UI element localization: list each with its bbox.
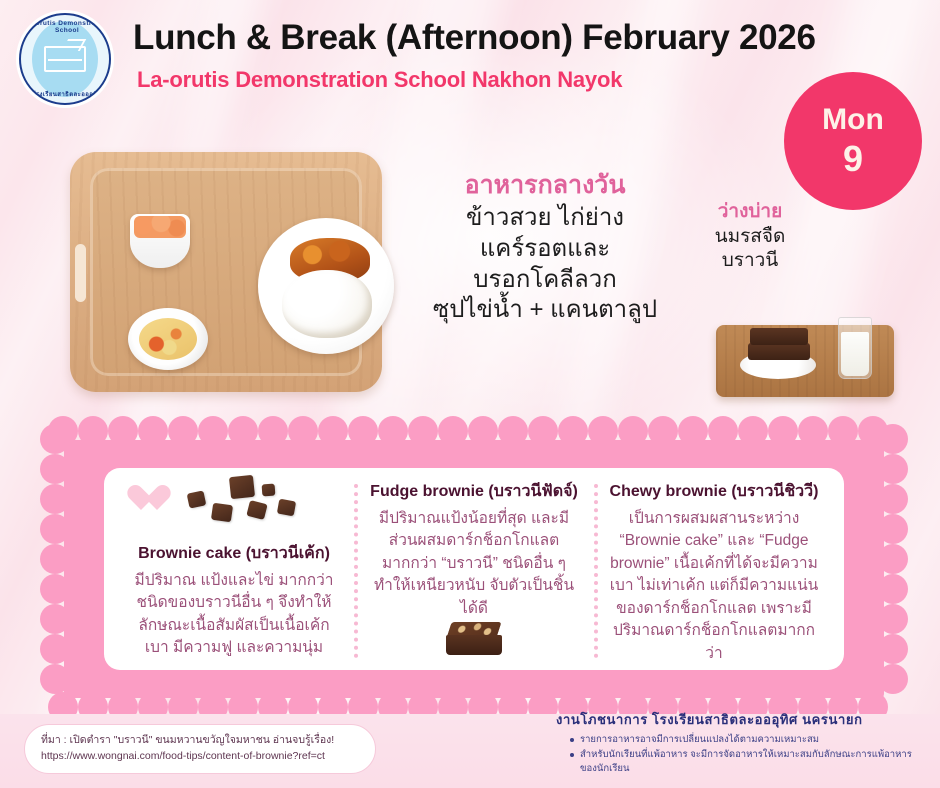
column-title: Fudge brownie (บราวนีฟัดจ์) <box>366 482 582 503</box>
card-white-panel: Brownie cake (บราวนีเค้ก) มีปริมาณ แป้งแ… <box>104 468 844 670</box>
soup-bowl <box>128 308 208 370</box>
egg-soup <box>139 318 197 360</box>
bullet-icon <box>570 753 574 757</box>
column-title-en: Brownie cake <box>138 545 241 562</box>
column-title: Brownie cake (บราวนีเค้ก) <box>126 544 342 565</box>
snack-line: นมรสจืด <box>676 225 824 250</box>
school-logo: La-orutis Demonstration School โรงเรียนส… <box>16 10 114 108</box>
snack-board-image <box>716 325 894 397</box>
main-plate <box>258 218 394 354</box>
lunch-tray-image <box>70 152 382 392</box>
note-item: รายการอาหารอาจมีการเปลี่ยนแปลงได้ตามความ… <box>556 733 928 747</box>
brownie-front-face <box>446 635 502 655</box>
card-pink-panel: Brownie cake (บราวนีเค้ก) มีปริมาณ แป้งแ… <box>64 440 884 698</box>
school-building-icon <box>44 46 86 72</box>
column-title-th: (บราวนีเค้ก) <box>246 545 330 562</box>
brownie-piece <box>750 328 808 345</box>
footer: ที่มา : เปิดตำรา "บราวนี" ขนมหวานขวัญใจม… <box>0 714 940 788</box>
fudge-brownie-icon <box>446 622 502 656</box>
day-number: 9 <box>843 141 863 177</box>
column-title-th: (บราวนีชิววี) <box>731 483 818 500</box>
lunch-line: ข้าวสวย ไก่ย่าง <box>415 203 675 234</box>
header: La-orutis Demonstration School โรงเรียนส… <box>0 0 940 108</box>
logo-bottom-text: โรงเรียนสาธิตละอออุทิศ <box>21 89 111 99</box>
logo-top-text: La-orutis Demonstration School <box>21 20 111 34</box>
bullet-icon <box>570 738 574 742</box>
page-subtitle: La-orutis Demonstration School Nakhon Na… <box>137 67 622 93</box>
brownie-piece <box>748 343 810 360</box>
steamed-rice <box>282 270 372 338</box>
day-badge: Mon 9 <box>784 72 922 210</box>
snack-heading: ว่างบ่าย <box>676 200 824 225</box>
cantaloupe-bowl <box>130 214 190 268</box>
column-body: เป็นการผสมผสานระหว่าง “Brownie cake” และ… <box>606 508 822 665</box>
column-title-en: Chewy brownie <box>610 483 727 500</box>
tray-handle-left <box>75 244 86 302</box>
notes-block: งานโภชนาการ โรงเรียนสาธิตละอออุทิศ นครนา… <box>556 709 928 776</box>
column-body: มีปริมาณ แป้งและไข่ มากกว่าชนิดของบราวนี… <box>126 570 342 660</box>
column-title-en: Fudge brownie <box>370 483 484 500</box>
source-box: ที่มา : เปิดตำรา "บราวนี" ขนมหวานขวัญใจม… <box>24 724 376 774</box>
note-text: สำหรับนักเรียนที่แพ้อาหาร จะมีการจัดอาหา… <box>580 748 928 777</box>
column-title-th: (บราวนีฟัดจ์) <box>488 483 577 500</box>
snack-menu: ว่างบ่าย นมรสจืด บราวนี <box>676 200 824 274</box>
milk-fill <box>841 332 869 376</box>
brownie-stack <box>748 328 810 362</box>
page-title: Lunch & Break (Afternoon) February 2026 <box>133 18 816 58</box>
lunch-line: บรอกโคลีลวก <box>415 265 675 296</box>
tray-surface <box>90 168 362 376</box>
column-body: มีปริมาณแป้งน้อยที่สุด และมีส่วนผสมดาร์ก… <box>366 508 582 620</box>
note-item: สำหรับนักเรียนที่แพ้อาหาร จะมีการจัดอาหา… <box>556 748 928 777</box>
brownie-info-card: Brownie cake (บราวนีเค้ก) มีปริมาณ แป้งแ… <box>48 424 900 714</box>
column-title: Chewy brownie (บราวนีชิววี) <box>606 482 822 503</box>
source-text: ที่มา : เปิดตำรา "บราวนี" ขนมหวานขวัญใจม… <box>41 733 359 749</box>
brownie-column-chewy: Chewy brownie (บราวนีชิววี) เป็นการผสมผส… <box>594 482 834 660</box>
poster-root: La-orutis Demonstration School โรงเรียนส… <box>0 0 940 788</box>
brownie-column-cake: Brownie cake (บราวนีเค้ก) มีปริมาณ แป้งแ… <box>114 482 354 660</box>
lunch-menu: อาหารกลางวัน ข้าวสวย ไก่ย่าง แคร์รอตและ … <box>415 170 675 326</box>
notes-title: งานโภชนาการ โรงเรียนสาธิตละอออุทิศ นครนา… <box>556 709 928 730</box>
note-text: รายการอาหารอาจมีการเปลี่ยนแปลงได้ตามความ… <box>580 733 819 747</box>
lunch-line: ซุปไข่น้ำ + แคนตาลูป <box>415 295 675 326</box>
source-url[interactable]: https://www.wongnai.com/food-tips/conten… <box>41 749 359 765</box>
day-of-week: Mon <box>822 105 884 135</box>
brownie-column-fudge: Fudge brownie (บราวนีฟัดจ์) มีปริมาณแป้ง… <box>354 482 594 660</box>
milk-glass <box>838 317 872 379</box>
logo-ring: La-orutis Demonstration School โรงเรียนส… <box>19 13 111 105</box>
lunch-heading: อาหารกลางวัน <box>415 170 675 201</box>
snack-line: บราวนี <box>676 249 824 274</box>
cantaloupe-cubes <box>134 216 186 238</box>
lunch-line: แคร์รอตและ <box>415 234 675 265</box>
brownie-columns: Brownie cake (บราวนีเค้ก) มีปริมาณ แป้งแ… <box>104 468 844 670</box>
